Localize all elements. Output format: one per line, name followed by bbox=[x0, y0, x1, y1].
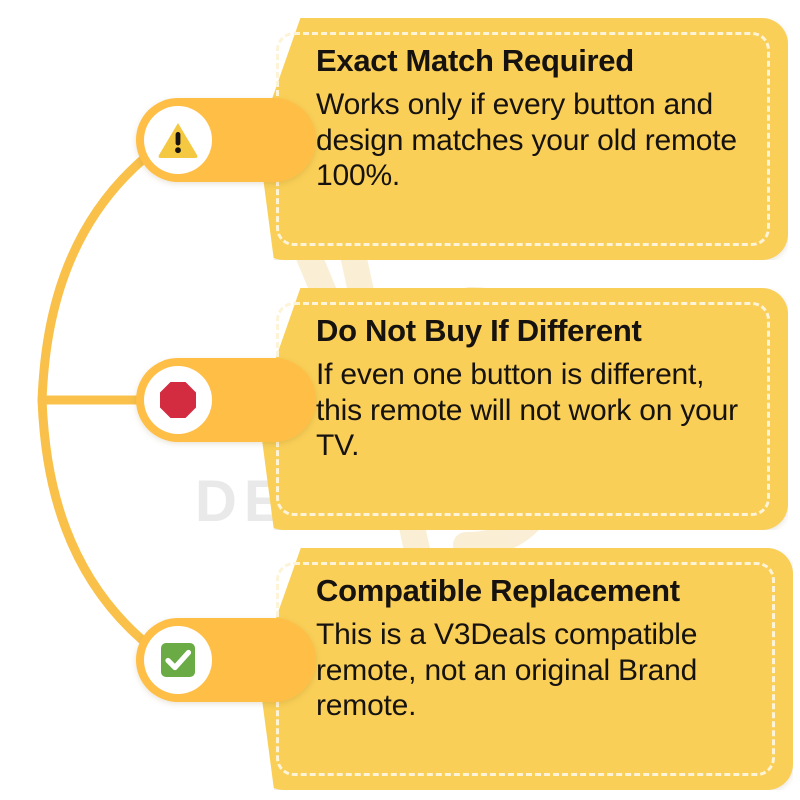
icon-circle bbox=[144, 106, 212, 174]
card-description: Works only if every button and design ma… bbox=[316, 87, 744, 192]
card-title: Do Not Buy If Different bbox=[316, 314, 744, 347]
infographic-canvas: DEALS Exact Match Required Works only if… bbox=[0, 0, 800, 800]
card-description: This is a V3Deals compatible remote, not… bbox=[316, 617, 749, 722]
warning-triangle-icon bbox=[155, 117, 201, 163]
card-description: If even one button is different, this re… bbox=[316, 357, 744, 462]
icon-circle bbox=[144, 626, 212, 694]
icon-tab-stop[interactable] bbox=[136, 358, 316, 442]
card-title: Exact Match Required bbox=[316, 44, 744, 77]
stop-octagon-icon bbox=[155, 377, 201, 423]
icon-circle bbox=[144, 366, 212, 434]
check-square-icon bbox=[155, 637, 201, 683]
card-exact-match[interactable]: Exact Match Required Works only if every… bbox=[258, 18, 788, 260]
card-do-not-buy[interactable]: Do Not Buy If Different If even one butt… bbox=[258, 288, 788, 530]
card-content: Compatible Replacement This is a V3Deals… bbox=[258, 548, 793, 790]
card-compatible-replacement[interactable]: Compatible Replacement This is a V3Deals… bbox=[258, 548, 793, 790]
card-content: Exact Match Required Works only if every… bbox=[258, 18, 788, 260]
card-content: Do Not Buy If Different If even one butt… bbox=[258, 288, 788, 530]
icon-tab-check[interactable] bbox=[136, 618, 316, 702]
card-title: Compatible Replacement bbox=[316, 574, 749, 607]
icon-tab-warning[interactable] bbox=[136, 98, 316, 182]
